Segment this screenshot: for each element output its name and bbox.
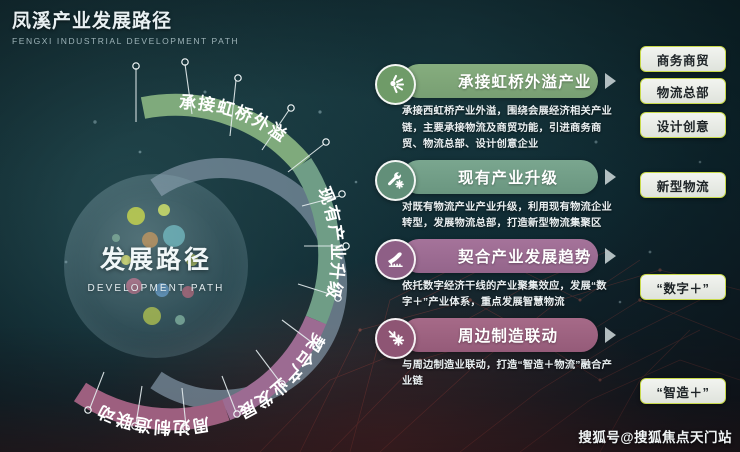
hub-subtitle: DEVELOPMENT PATH [88,283,225,294]
card-title: 契合产业发展趋势 [458,245,592,267]
card-title-chip[interactable]: 承接虹桥外溢产业 [402,64,598,98]
play-arrow-icon[interactable] [605,169,616,185]
card-item[interactable]: 契合产业发展趋势 [372,239,630,312]
card-title: 现有产业升级 [458,166,558,188]
card-title-chip[interactable]: 契合产业发展趋势 [402,239,598,273]
tag-item[interactable]: 物流总部 [640,78,726,104]
play-arrow-icon[interactable] [605,327,616,343]
card-header[interactable]: 现有产业升级 [372,160,630,200]
card-description: 依托数字经济干线的产业聚集效应，发展“数字＋”产业体系，重点发展智慧物流 [402,279,617,312]
arc-label-3: 契合产业发展 [235,330,329,422]
play-arrow-icon[interactable] [605,73,616,89]
card-description: 与周边制造业联动，打造“智造＋物流”融合产业链 [402,358,617,391]
card-description: 承接西虹桥产业外溢，围绕会展经济相关产业链，主要承接物流及商贸功能，引进商务商贸… [402,104,617,154]
card-title-chip[interactable]: 周边制造联动 [402,318,598,352]
wrench-icon [375,160,416,201]
card-title: 承接虹桥外溢产业 [458,70,592,92]
tag-list: 商务商贸 物流总部 设计创意 新型物流 “数字＋” “智造＋” [640,0,732,452]
card-header[interactable]: 契合产业发展趋势 [372,239,630,279]
tag-item[interactable]: “数字＋” [640,274,726,300]
card-description: 对既有物流产业产业升级，利用现有物流企业转型，发展物流总部，打造新型物流集聚区 [402,200,617,233]
tag-item[interactable]: 商务商贸 [640,46,726,72]
rocket-trend-icon [375,239,416,280]
card-title-chip[interactable]: 现有产业升级 [402,160,598,194]
card-title: 周边制造联动 [458,324,558,346]
tag-item[interactable]: 设计创意 [640,112,726,138]
card-header[interactable]: 承接虹桥外溢产业 [372,64,630,104]
burst-icon [375,64,416,105]
play-arrow-icon[interactable] [605,248,616,264]
arc-label-1: 承接虹桥外溢 [179,93,292,146]
inbound-arrow-star-icon [375,318,416,359]
page-title: 凤溪产业发展路径 [12,6,239,33]
card-item[interactable]: 现有产业升级 对既有物流产业产业升级，利用现有物流企业转型， [372,160,630,233]
watermark: 搜狐号@搜狐焦点天门站 [578,426,732,446]
hub-circle: 发展路径 DEVELOPMENT PATH [64,174,248,358]
card-list: 承接虹桥外溢产业 承接西虹桥产 [372,64,630,397]
tag-item[interactable]: 新型物流 [640,172,726,198]
card-item[interactable]: 承接虹桥外溢产业 承接西虹桥产 [372,64,630,154]
card-item[interactable]: 周边制造联动 [372,318,630,391]
tag-item[interactable]: “智造＋” [640,378,726,404]
infographic-canvas: 凤溪产业发展路径 FENGXI INDUSTRIAL DEVELOPMENT P… [0,0,740,452]
hub-title: 发展路径 [100,240,212,276]
card-header[interactable]: 周边制造联动 [372,318,630,358]
